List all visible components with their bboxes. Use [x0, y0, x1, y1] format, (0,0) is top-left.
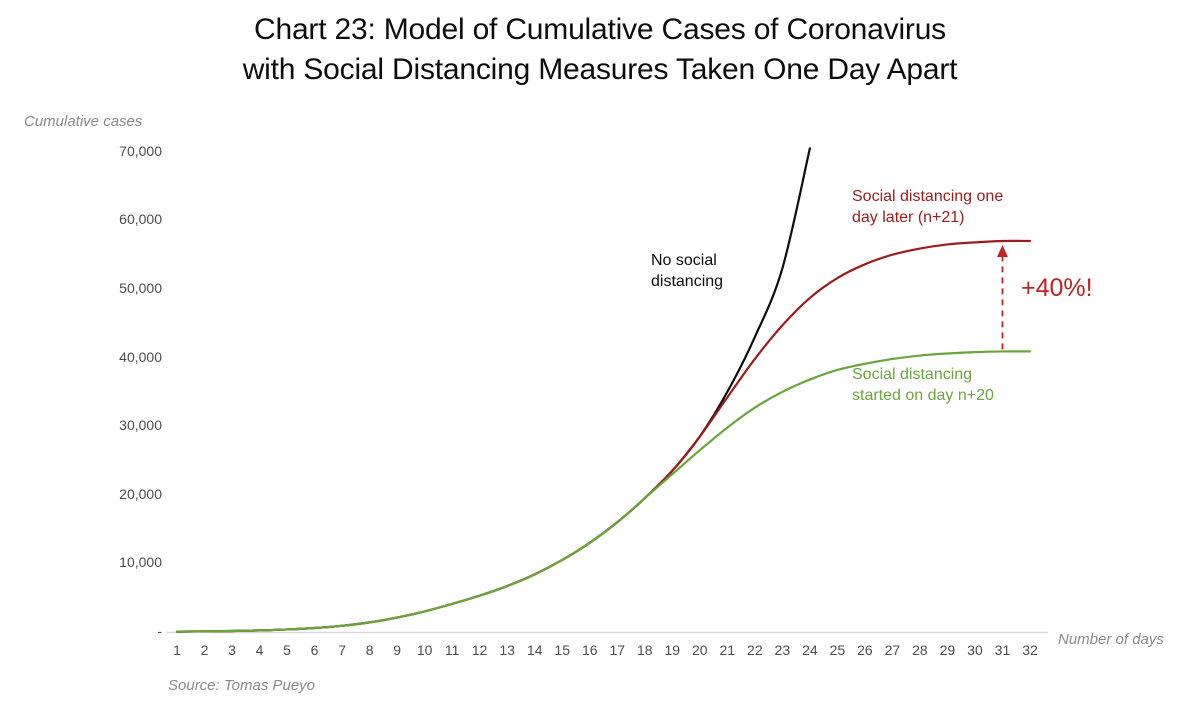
annotation-started-n20-line-1: Social distancing: [852, 364, 994, 385]
series-line: [177, 241, 1030, 632]
annotation-social-distancing-one-day-later: Social distancing one day later (n+21): [852, 186, 1003, 228]
source-note: Source: Tomas Pueyo: [168, 677, 315, 694]
annotation-started-n20-line-2: started on day n+20: [852, 385, 994, 406]
annotation-one-day-later-line-1: Social distancing one: [852, 186, 1003, 207]
annotation-social-distancing-started-n20: Social distancing started on day n+20: [852, 364, 994, 406]
delta-callout-arrow: [997, 245, 1008, 349]
chart-container: Chart 23: Model of Cumulative Cases of C…: [0, 0, 1200, 725]
annotation-no-social-distancing-line-1: No social: [651, 250, 723, 271]
plot-area: [0, 0, 1200, 725]
annotation-delta-percent: +40%!: [1021, 274, 1093, 303]
annotation-one-day-later-line-2: day later (n+21): [852, 207, 1003, 228]
delta-arrow-head: [997, 245, 1008, 257]
annotation-no-social-distancing: No social distancing: [651, 250, 723, 292]
annotation-no-social-distancing-line-2: distancing: [651, 271, 723, 292]
series-line: [177, 148, 810, 631]
